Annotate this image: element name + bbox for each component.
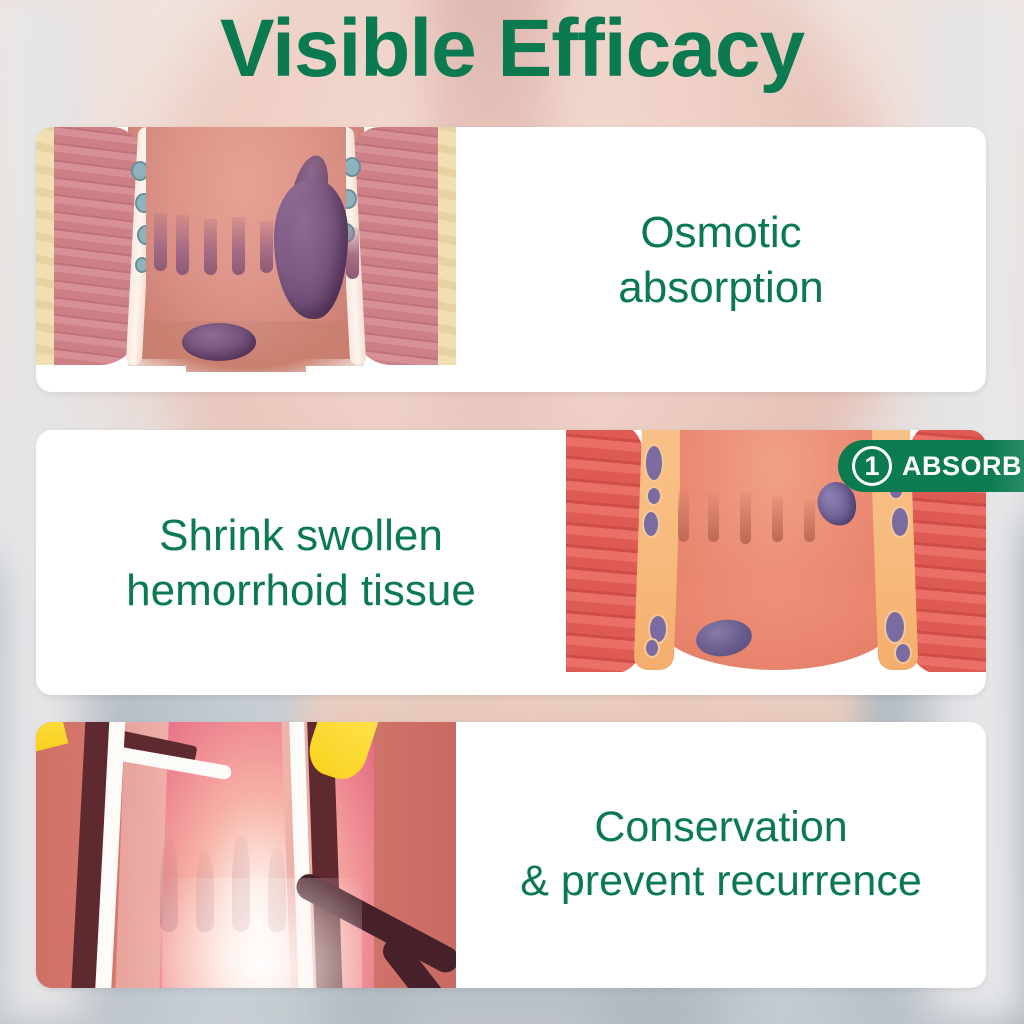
card-inner: Conservation & prevent recurrence <box>36 722 986 988</box>
card-copy: Osmotic absorption <box>456 127 986 392</box>
step-badge-absorb[interactable]: 1 ABSORB <box>838 440 1024 492</box>
card-heading: Osmotic absorption <box>618 205 823 315</box>
card-copy: Shrink swollen hemorrhoid tissue <box>36 430 566 695</box>
illustration-stylized-rectal-mucosa-vessels <box>36 722 456 988</box>
step-label: ABSORB <box>902 451 1022 482</box>
benefit-card-absorb: Osmotic absorption 1 ABSORB <box>36 127 986 392</box>
card-heading: Conservation & prevent recurrence <box>520 801 922 909</box>
card-copy: Conservation & prevent recurrence <box>456 722 986 988</box>
step-number: 1 <box>852 446 892 486</box>
illustration-anal-canal-cross-section-with-hemorrhoid <box>36 127 456 392</box>
card-heading: Shrink swollen hemorrhoid tissue <box>126 508 476 618</box>
card-inner: Osmotic absorption <box>36 127 986 392</box>
infographic-page: Visible Efficacy <box>0 0 1024 1024</box>
benefit-card-keep: Conservation & prevent recurrence 3 KEEP <box>36 722 986 988</box>
page-title: Visible Efficacy <box>0 4 1024 94</box>
